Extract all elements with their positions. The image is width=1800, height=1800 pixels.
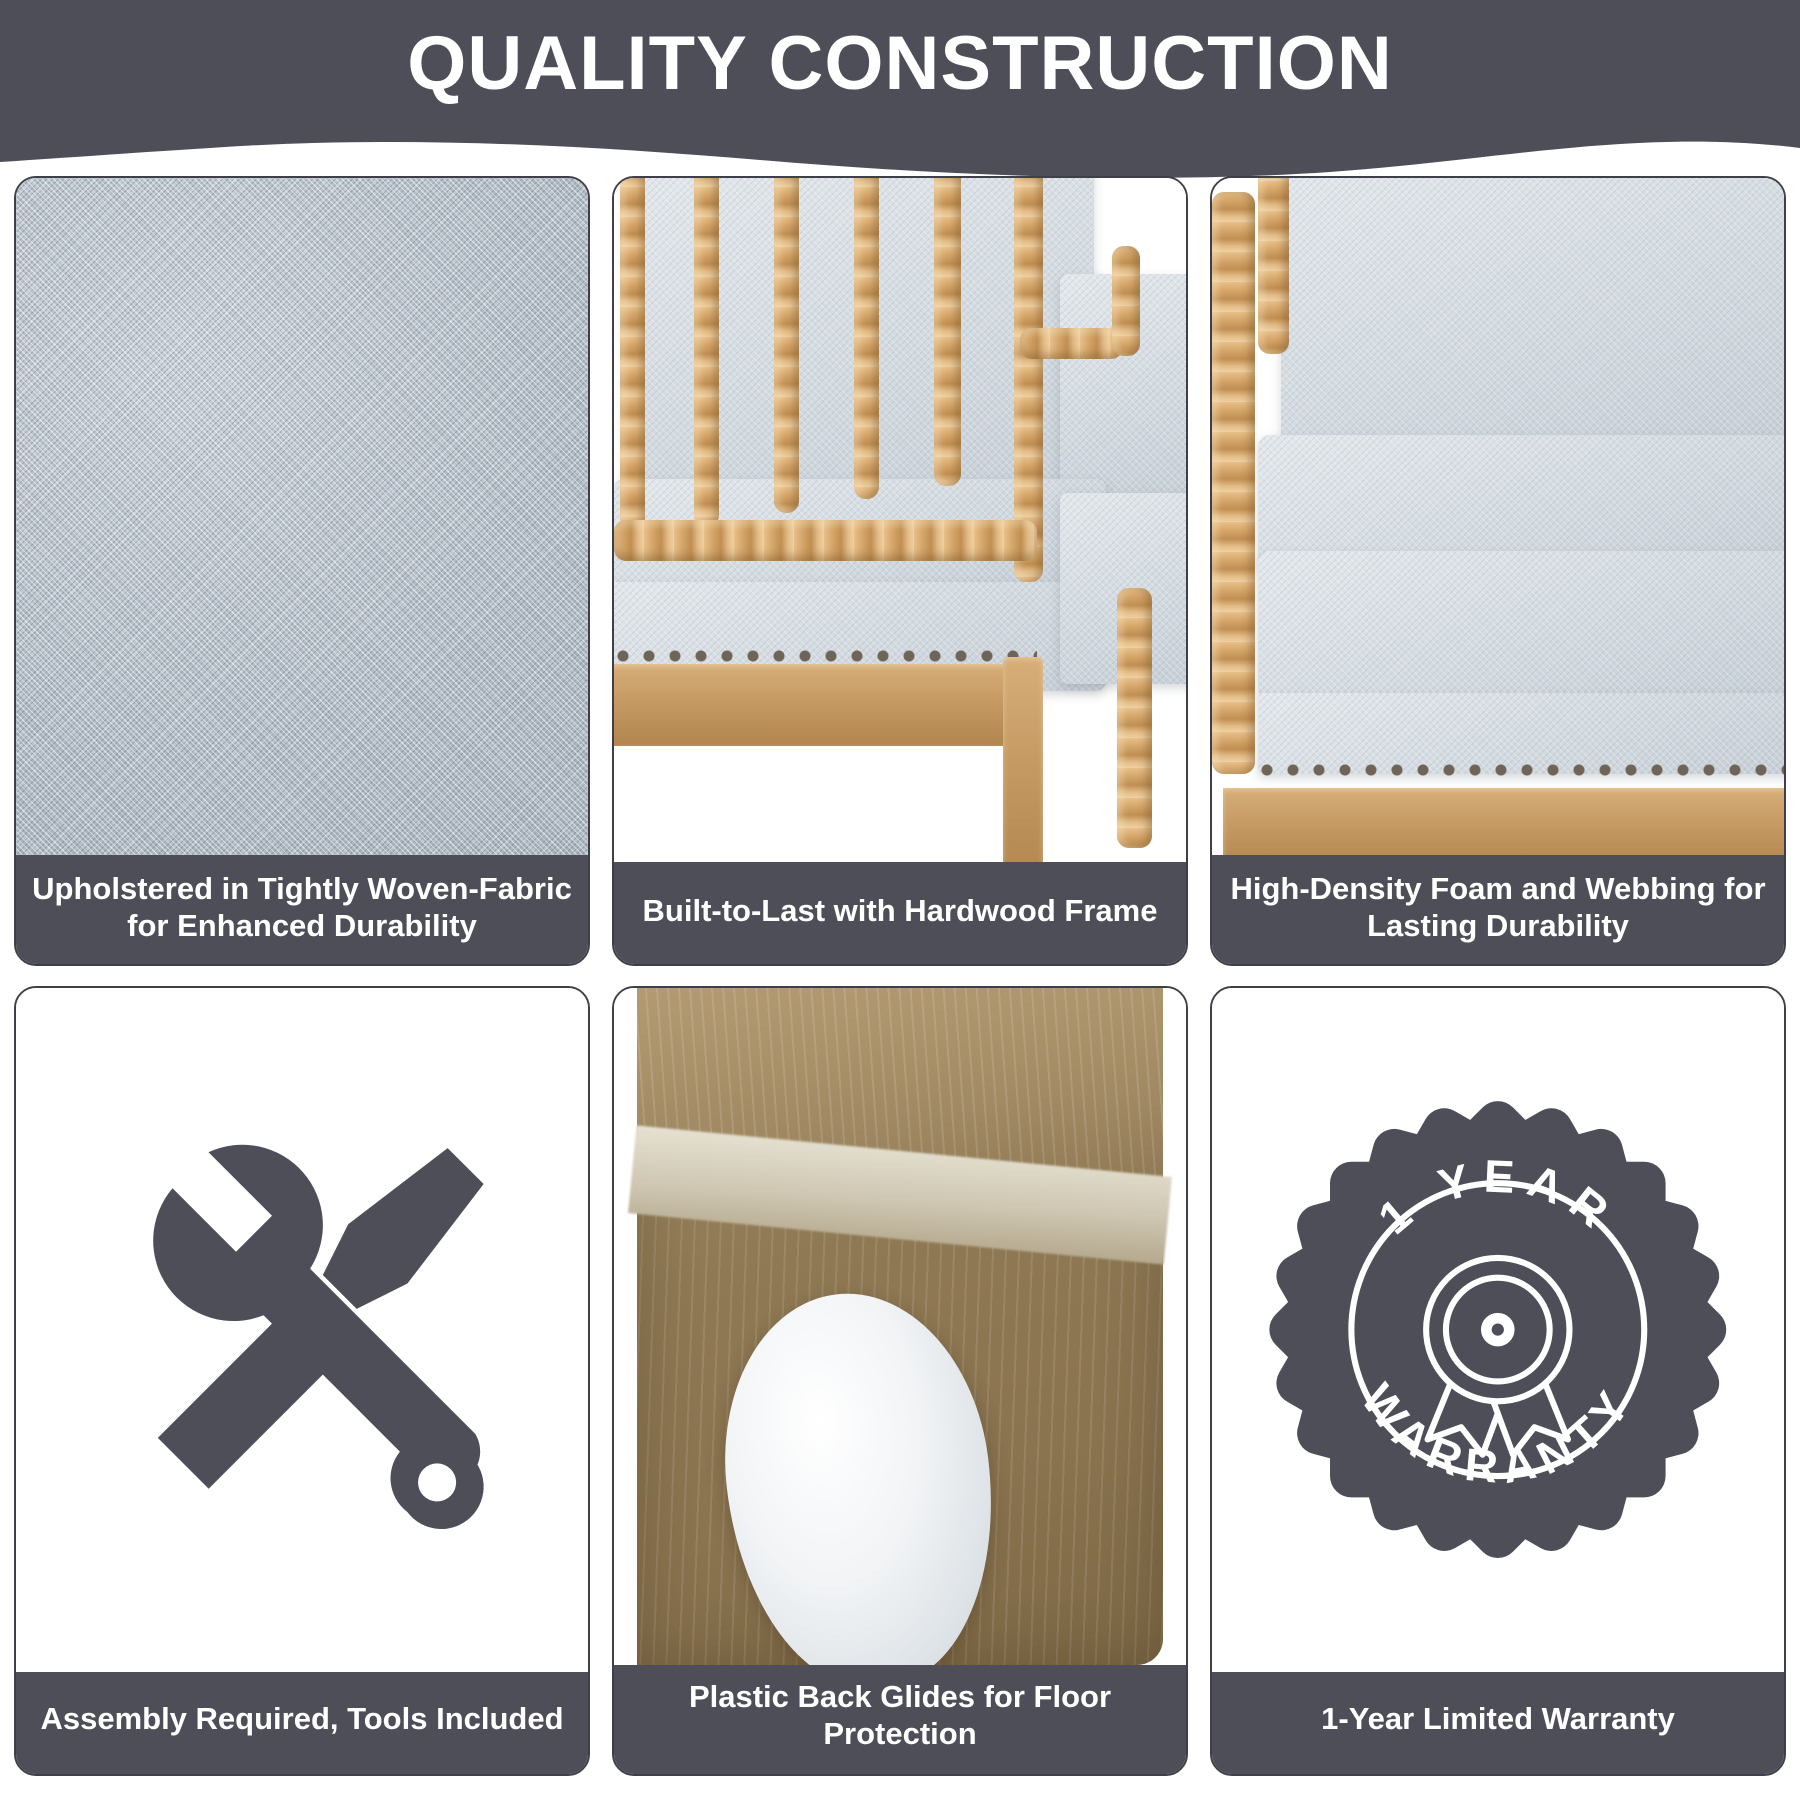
closeup-nailhead-trim [1258,761,1784,779]
caption-warranty: 1-Year Limited Warranty [1212,1672,1784,1774]
closeup-spindle-leg [1212,192,1255,775]
caption-floor-glides: Plastic Back Glides for Floor Protection [614,1665,1186,1774]
page-title: QUALITY CONSTRUCTION [0,22,1800,106]
page-header: QUALITY CONSTRUCTION [0,0,1800,190]
feature-cell-assembly-tools: Assembly Required, Tools Included [14,986,590,1776]
chair-spindle-1 [620,178,645,541]
feature-grid: Upholstered in Tightly Woven-Fabric for … [14,176,1786,1776]
badge-medal-dot [1492,1324,1504,1336]
closeup-back-cushion [1281,178,1784,449]
closeup-spindle-post [1258,178,1289,354]
chair-scene [614,178,1186,862]
plastic-glide-photo [614,988,1186,1665]
tools-icon [90,1077,513,1583]
glide-scene [614,988,1186,1665]
chair-spindle-rail [614,520,1037,561]
caption-foam-webbing: High-Density Foam and Webbing for Lastin… [1212,855,1784,964]
chair-arm-spindle [1020,328,1123,358]
caption-upholstery: Upholstered in Tightly Woven-Fabric for … [16,855,588,964]
chair-front-leg [1003,657,1043,862]
spindle-chair-photo [614,178,1186,862]
chair-spindle-5 [934,178,960,486]
chair-base-rail [614,664,1043,746]
cushion-scene [1212,178,1784,855]
closeup-seat-cushion-lower [1258,551,1784,700]
fabric-swatch-photo [16,178,588,855]
feature-cell-upholstery: Upholstered in Tightly Woven-Fabric for … [14,176,590,966]
warranty-badge-icon: 1 YEAR WARRANTY [1269,1056,1727,1603]
feature-cell-hardwood-frame: Built-to-Last with Hardwood Frame [612,176,1188,966]
caption-assembly-tools: Assembly Required, Tools Included [16,1672,588,1774]
chair-spindle-3 [774,178,799,513]
chair-arm-post [1112,246,1141,355]
warranty-badge-area: 1 YEAR WARRANTY [1212,988,1784,1672]
chair-rear-spindle-leg [1117,588,1151,848]
tools-icon-area [16,988,588,1672]
feature-cell-warranty: 1 YEAR WARRANTY 1-Year Limited Warranty [1210,986,1786,1776]
feature-cell-floor-glides: Plastic Back Glides for Floor Protection [612,986,1188,1776]
chair-spindle-2 [694,178,719,527]
cushion-closeup-photo [1212,178,1784,855]
chair-spindle-4 [854,178,879,499]
closeup-base-rail [1223,788,1784,856]
chair-nailhead-trim [614,647,1037,665]
feature-cell-foam-webbing: High-Density Foam and Webbing for Lastin… [1210,176,1786,966]
caption-hardwood-frame: Built-to-Last with Hardwood Frame [614,862,1186,964]
fabric-texture [16,178,588,855]
